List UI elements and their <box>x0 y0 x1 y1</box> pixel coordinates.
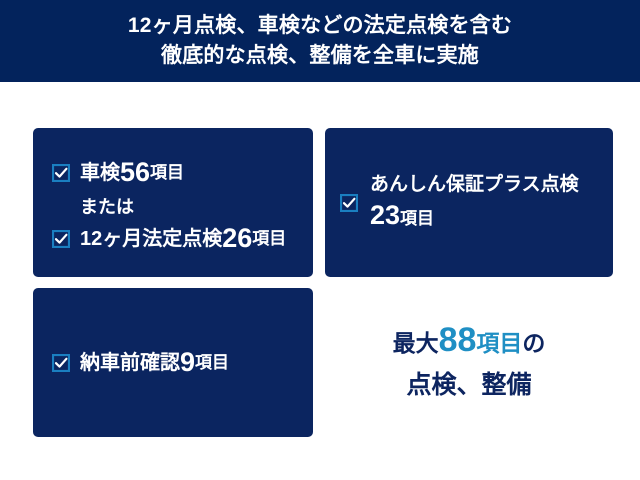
inspection-shaken-number: 56 <box>120 159 150 186</box>
warranty-unit: 項目 <box>400 209 434 228</box>
card-warranty: あんしん保証プラス点検 23項目 <box>325 128 613 277</box>
predelivery-unit: 項目 <box>195 354 229 371</box>
checkbox-checked-icon <box>52 354 70 372</box>
checkbox-checked-icon <box>340 194 358 212</box>
summary-total: 最大88項目の 点検、整備 <box>325 288 613 437</box>
card-inspection-content: 車検56項目 または 12ヶ月法定点検26項目 <box>52 156 303 255</box>
inspection-12month-number: 26 <box>222 225 252 252</box>
checkbox-slot <box>52 230 80 248</box>
checkbox-checked-icon <box>52 230 70 248</box>
warranty-title: あんしん保証プラス点検 <box>370 168 579 202</box>
summary-unit: 項目 <box>476 330 522 356</box>
summary-prefix: 最大 <box>393 330 439 356</box>
summary-number: 88 <box>439 321 477 359</box>
inspection-shaken-unit: 項目 <box>150 164 184 181</box>
inspection-12month-label: 12ヶ月法定点検 <box>80 229 222 249</box>
header-banner: 12ヶ月点検、車検などの法定点検を含む 徹底的な点検、整備を全車に実施 <box>0 0 640 82</box>
checkbox-slot <box>340 194 370 212</box>
warranty-count-line: 23項目 <box>370 202 579 238</box>
inspection-row-12month: 12ヶ月法定点検26項目 <box>52 222 303 255</box>
card-inspection: 車検56項目 または 12ヶ月法定点検26項目 <box>33 128 313 277</box>
inspection-row-divider: または <box>52 189 303 222</box>
header-title-line-2: 徹底的な点検、整備を全車に実施 <box>161 41 479 71</box>
summary-line-2: 点検、整備 <box>406 366 531 404</box>
inspection-12month-unit: 項目 <box>252 230 286 247</box>
checkbox-slot <box>52 354 80 372</box>
predelivery-number: 9 <box>180 349 195 376</box>
header-title-line-1: 12ヶ月点検、車検などの法定点検を含む <box>128 11 512 41</box>
checkbox-checked-icon <box>52 164 70 182</box>
inspection-row-shaken: 車検56項目 <box>52 156 303 189</box>
warranty-text-block: あんしん保証プラス点検 23項目 <box>370 168 579 238</box>
card-warranty-content: あんしん保証プラス点検 23項目 <box>340 128 605 277</box>
predelivery-label: 納車前確認 <box>80 353 180 373</box>
card-predelivery: 納車前確認9項目 <box>33 288 313 437</box>
card-predelivery-content: 納車前確認9項目 <box>52 288 303 437</box>
summary-suffix: の <box>522 330 545 356</box>
inspection-divider-label: または <box>80 193 134 219</box>
warranty-number: 23 <box>370 200 400 230</box>
summary-line-1: 最大88項目の <box>393 321 546 366</box>
inspection-shaken-label: 車検 <box>80 163 120 183</box>
checkbox-slot <box>52 164 80 182</box>
